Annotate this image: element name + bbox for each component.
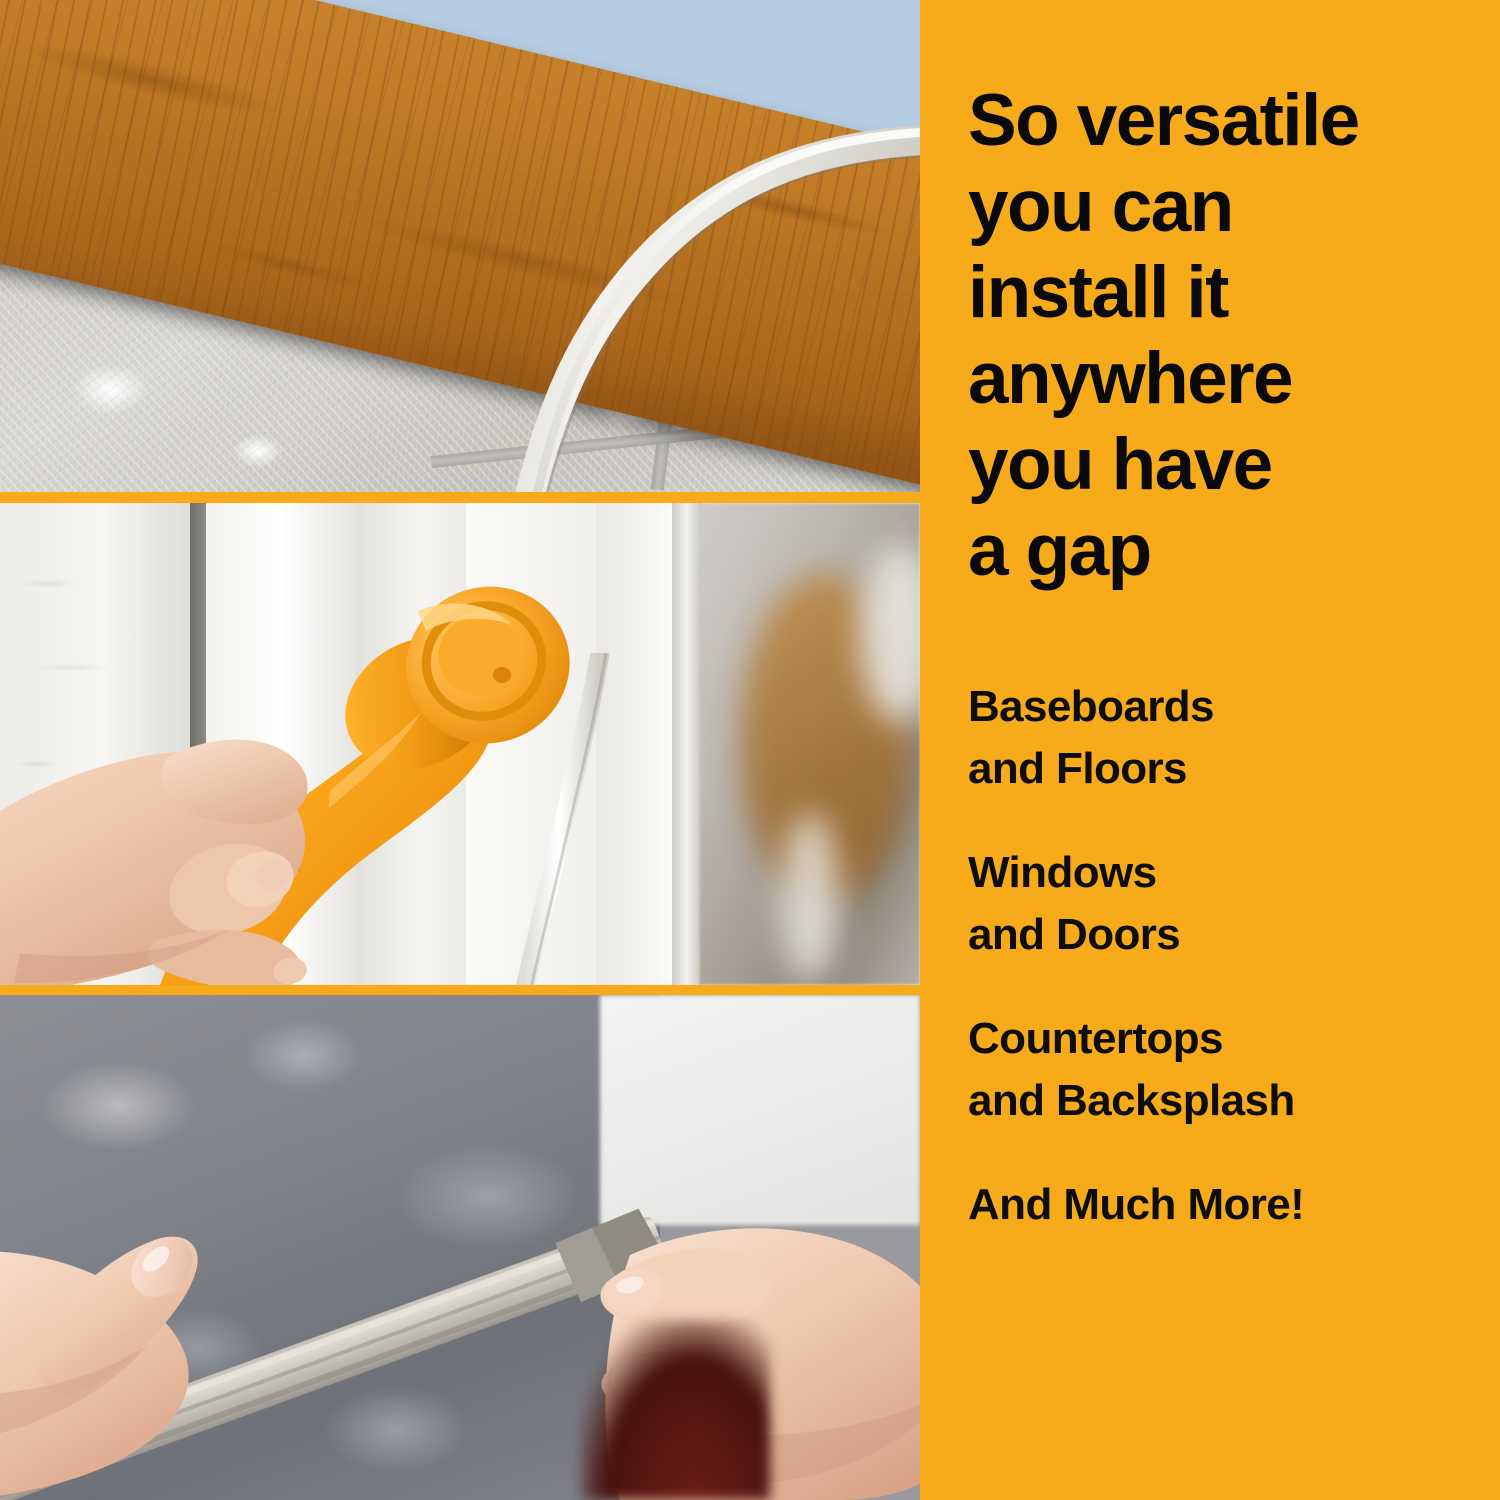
list-item-line: Windows [968,842,1488,904]
headline-line-3: install it [968,250,1488,336]
photo-panel-baseboard-tile [0,0,920,492]
headline-line-2: you can [968,164,1488,250]
panel-divider [0,985,920,995]
headline-line-6: a gap [968,508,1488,594]
use-case-list: Baseboards and Floors Windows and Doors … [968,676,1488,1236]
dark-shadow-area [580,1320,770,1500]
headline-line-5: you have [968,422,1488,508]
list-item-baseboards-and-floors: Baseboards and Floors [968,676,1488,800]
list-item-countertops-and-backsplash: Countertops and Backsplash [968,1008,1488,1132]
list-item-line: and Doors [968,904,1488,966]
human-hand [0,653,500,985]
blurred-highlight [780,813,840,983]
window-frame-edge [672,503,702,985]
list-item-line: Countertops [968,1008,1488,1070]
panel-divider [0,492,920,503]
list-item-line: and Floors [968,738,1488,800]
list-item-line: And Much More! [968,1174,1488,1236]
headline-line-4: anywhere [968,336,1488,422]
text-column: So versatile you can install it anywhere… [920,0,1500,1500]
left-hand [0,1145,370,1500]
list-item-and-much-more: And Much More! [968,1174,1488,1236]
headline: So versatile you can install it anywhere… [968,78,1488,594]
photo-panel-window-trim: asu [0,503,920,985]
photo-panel-countertop-backsplash [0,995,920,1500]
product-feature-graphic: asu [0,0,1500,1500]
headline-line-1: So versatile [968,78,1488,164]
photo-column: asu [0,0,920,1500]
list-item-line: Baseboards [968,676,1488,738]
list-item-line: and Backsplash [968,1070,1488,1132]
white-caulk-strip [370,118,920,492]
list-item-windows-and-doors: Windows and Doors [968,842,1488,966]
